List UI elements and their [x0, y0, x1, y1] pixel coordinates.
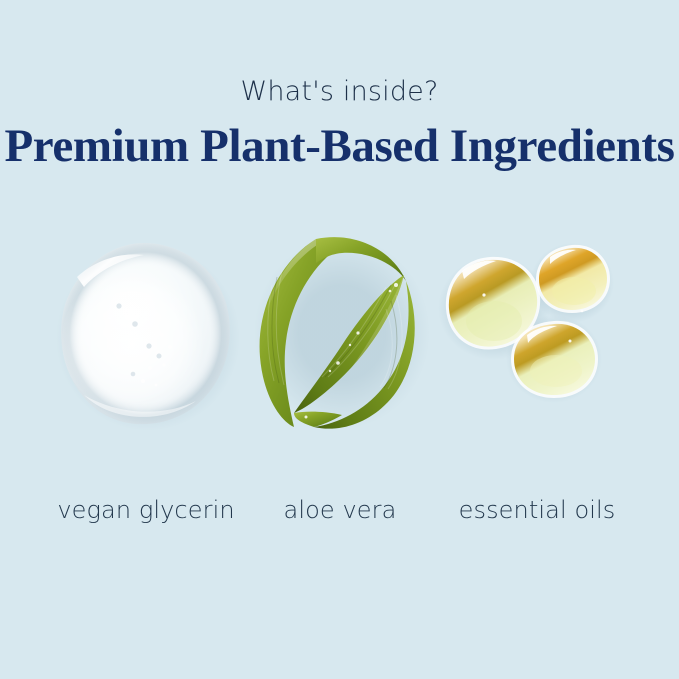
ingredient-label-aloe-vera: aloe vera [250, 496, 430, 524]
essential-oil-droplets-image [432, 225, 647, 440]
ingredient-item-essential-oils [432, 225, 647, 440]
page-title: Premium Plant-Based Ingredients [0, 119, 679, 173]
glycerin-gel-drop-image [22, 225, 267, 440]
oil-droplet-mid [511, 321, 598, 398]
oil-droplet-small [536, 245, 610, 313]
ingredient-label-vegan-glycerin: vegan glycerin [36, 496, 256, 524]
ingredient-label-essential-oils: essential oils [437, 496, 637, 524]
eyebrow-text: What's inside? [0, 76, 679, 107]
ingredients-infographic: What's inside? Premium Plant-Based Ingre… [0, 0, 679, 679]
ingredient-image-row [0, 225, 679, 440]
ingredient-item-vegan-glycerin [22, 225, 267, 440]
ingredient-label-row: vegan glycerin aloe vera essential oils [0, 496, 679, 532]
aloe-vera-leaf-strips-image [246, 225, 441, 440]
ingredient-item-aloe-vera [246, 225, 441, 440]
